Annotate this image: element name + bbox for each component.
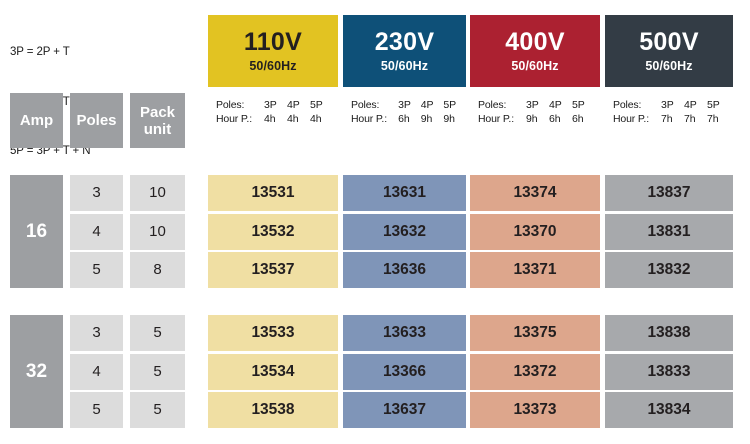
hour-position-value: 4h (264, 112, 287, 126)
product-code-cell: 13375 (470, 315, 600, 351)
hour-position-value: 7h (684, 112, 707, 126)
poles-cell-text: 5 (92, 252, 100, 288)
poles-row-label: Poles: (351, 98, 398, 112)
voltage-header-230v: 230V50/60Hz (343, 15, 466, 87)
poles-value: 4P (549, 98, 572, 112)
hour-position-value: 9h (526, 112, 549, 126)
pack-unit-cell: 5 (130, 315, 185, 351)
product-code-cell: 13833 (605, 354, 733, 390)
hour-position-value: 4h (287, 112, 310, 126)
poles-value: 5P (707, 98, 730, 112)
voltage-header-500v: 500V50/60Hz (605, 15, 733, 87)
poles-cell: 4 (70, 214, 123, 250)
frequency-label: 50/60Hz (381, 59, 428, 73)
hour-position-value: 6h (398, 112, 421, 126)
product-code-cell-text: 13370 (513, 214, 556, 250)
hour-position-value: 9h (443, 112, 466, 126)
product-code-cell-text: 13533 (251, 315, 294, 351)
column-header-label: Poles (76, 112, 116, 129)
product-code-cell-text: 13372 (513, 354, 556, 390)
subheader-110v: Poles:3P4P5PHour P.:4h4h4h (216, 98, 338, 134)
poles-row-label: Poles: (613, 98, 661, 112)
hour-position-value: 6h (549, 112, 572, 126)
poles-cell-text: 5 (92, 392, 100, 428)
hour-position-row-label: Hour P.: (351, 112, 398, 126)
poles-cell-text: 3 (92, 175, 100, 211)
product-code-cell: 13532 (208, 214, 338, 250)
product-code-cell-text: 13375 (513, 315, 556, 351)
product-code-cell-text: 13532 (251, 214, 294, 250)
pack-unit-cell-text: 5 (153, 315, 161, 351)
pack-unit-cell: 5 (130, 354, 185, 390)
pack-unit-cell-text: 8 (153, 252, 161, 288)
poles-row-label: Poles: (478, 98, 526, 112)
product-code-cell-text: 13632 (383, 214, 426, 250)
product-code-cell-text: 13374 (513, 175, 556, 211)
frequency-label: 50/60Hz (511, 59, 558, 73)
product-code-cell: 13372 (470, 354, 600, 390)
product-code-cell: 13834 (605, 392, 733, 428)
poles-value: 5P (443, 98, 466, 112)
subheader-400v: Poles:3P4P5PHour P.:9h6h6h (478, 98, 600, 134)
product-code-cell: 13370 (470, 214, 600, 250)
product-code-cell-text: 13837 (647, 175, 690, 211)
poles-cell-text: 4 (92, 354, 100, 390)
poles-value: 4P (684, 98, 707, 112)
product-code-cell: 13534 (208, 354, 338, 390)
product-code-cell-text: 13633 (383, 315, 426, 351)
voltage-label: 230V (375, 29, 435, 55)
pack-unit-cell: 8 (130, 252, 185, 288)
product-code-cell: 13373 (470, 392, 600, 428)
product-code-cell: 13538 (208, 392, 338, 428)
poles-value: 4P (287, 98, 310, 112)
product-code-cell-text: 13834 (647, 392, 690, 428)
frequency-label: 50/60Hz (249, 59, 296, 73)
hour-position-row-label: Hour P.: (478, 112, 526, 126)
product-code-cell: 13533 (208, 315, 338, 351)
pack-unit-cell-text: 5 (153, 354, 161, 390)
pack-unit-cell-text: 10 (149, 175, 166, 211)
hour-position-value: 4h (310, 112, 333, 126)
pack-unit-cell: 5 (130, 392, 185, 428)
product-code-cell-text: 13637 (383, 392, 426, 428)
product-code-cell-text: 13534 (251, 354, 294, 390)
column-header-label: Pack unit (140, 104, 175, 138)
poles-value: 5P (572, 98, 595, 112)
poles-cell: 5 (70, 252, 123, 288)
poles-row-label: Poles: (216, 98, 264, 112)
hour-position-row-label: Hour P.: (613, 112, 661, 126)
poles-value: 4P (421, 98, 444, 112)
column-header-label: Amp (20, 112, 53, 129)
product-code-cell: 13832 (605, 252, 733, 288)
column-header-amp: Amp (10, 93, 63, 148)
voltage-label: 400V (505, 29, 565, 55)
voltage-label: 500V (639, 29, 699, 55)
product-code-cell: 13531 (208, 175, 338, 211)
product-code-cell-text: 13531 (251, 175, 294, 211)
product-code-cell-text: 13831 (647, 214, 690, 250)
product-code-cell-text: 13833 (647, 354, 690, 390)
poles-cell: 5 (70, 392, 123, 428)
product-code-cell: 13636 (343, 252, 466, 288)
product-code-cell: 13633 (343, 315, 466, 351)
product-code-cell-text: 13537 (251, 252, 294, 288)
column-header-pack-unit: Pack unit (130, 93, 185, 148)
poles-cell: 4 (70, 354, 123, 390)
product-code-cell: 13631 (343, 175, 466, 211)
poles-value: 5P (310, 98, 333, 112)
poles-cell-text: 4 (92, 214, 100, 250)
hour-position-value: 9h (421, 112, 444, 126)
amp-group-label-32: 32 (10, 315, 63, 428)
product-code-cell: 13637 (343, 392, 466, 428)
pack-unit-cell-text: 5 (153, 392, 161, 428)
hour-position-value: 7h (707, 112, 730, 126)
subheader-230v: Poles:3P4P5PHour P.:6h9h9h (351, 98, 466, 134)
voltage-header-400v: 400V50/60Hz (470, 15, 600, 87)
voltage-header-110v: 110V50/60Hz (208, 15, 338, 87)
product-code-cell-text: 13636 (383, 252, 426, 288)
product-code-cell: 13537 (208, 252, 338, 288)
voltage-label: 110V (244, 29, 302, 55)
poles-value: 3P (526, 98, 549, 112)
amp-value: 16 (26, 221, 47, 243)
poles-cell: 3 (70, 175, 123, 211)
hour-position-row-label: Hour P.: (216, 112, 264, 126)
poles-cell: 3 (70, 315, 123, 351)
product-code-cell-text: 13371 (513, 252, 556, 288)
pack-unit-cell: 10 (130, 175, 185, 211)
pack-unit-cell: 10 (130, 214, 185, 250)
pack-unit-cell-text: 10 (149, 214, 166, 250)
amp-group-label-16: 16 (10, 175, 63, 288)
product-code-cell-text: 13366 (383, 354, 426, 390)
product-code-cell: 13374 (470, 175, 600, 211)
poles-value: 3P (398, 98, 421, 112)
product-code-cell: 13837 (605, 175, 733, 211)
hour-position-value: 7h (661, 112, 684, 126)
product-code-cell-text: 13538 (251, 392, 294, 428)
product-code-cell: 13831 (605, 214, 733, 250)
product-code-cell-text: 13373 (513, 392, 556, 428)
poles-value: 3P (661, 98, 684, 112)
product-code-cell-text: 13832 (647, 252, 690, 288)
product-code-cell: 13632 (343, 214, 466, 250)
amp-value: 32 (26, 361, 47, 383)
frequency-label: 50/60Hz (645, 59, 692, 73)
poles-value: 3P (264, 98, 287, 112)
subheader-500v: Poles:3P4P5PHour P.:7h7h7h (613, 98, 733, 134)
product-code-cell: 13366 (343, 354, 466, 390)
product-code-cell: 13838 (605, 315, 733, 351)
product-code-cell: 13371 (470, 252, 600, 288)
product-code-cell-text: 13838 (647, 315, 690, 351)
column-header-poles: Poles (70, 93, 123, 148)
product-code-cell-text: 13631 (383, 175, 426, 211)
poles-cell-text: 3 (92, 315, 100, 351)
hour-position-value: 6h (572, 112, 595, 126)
legend-line-1: 3P = 2P + T (10, 44, 90, 61)
